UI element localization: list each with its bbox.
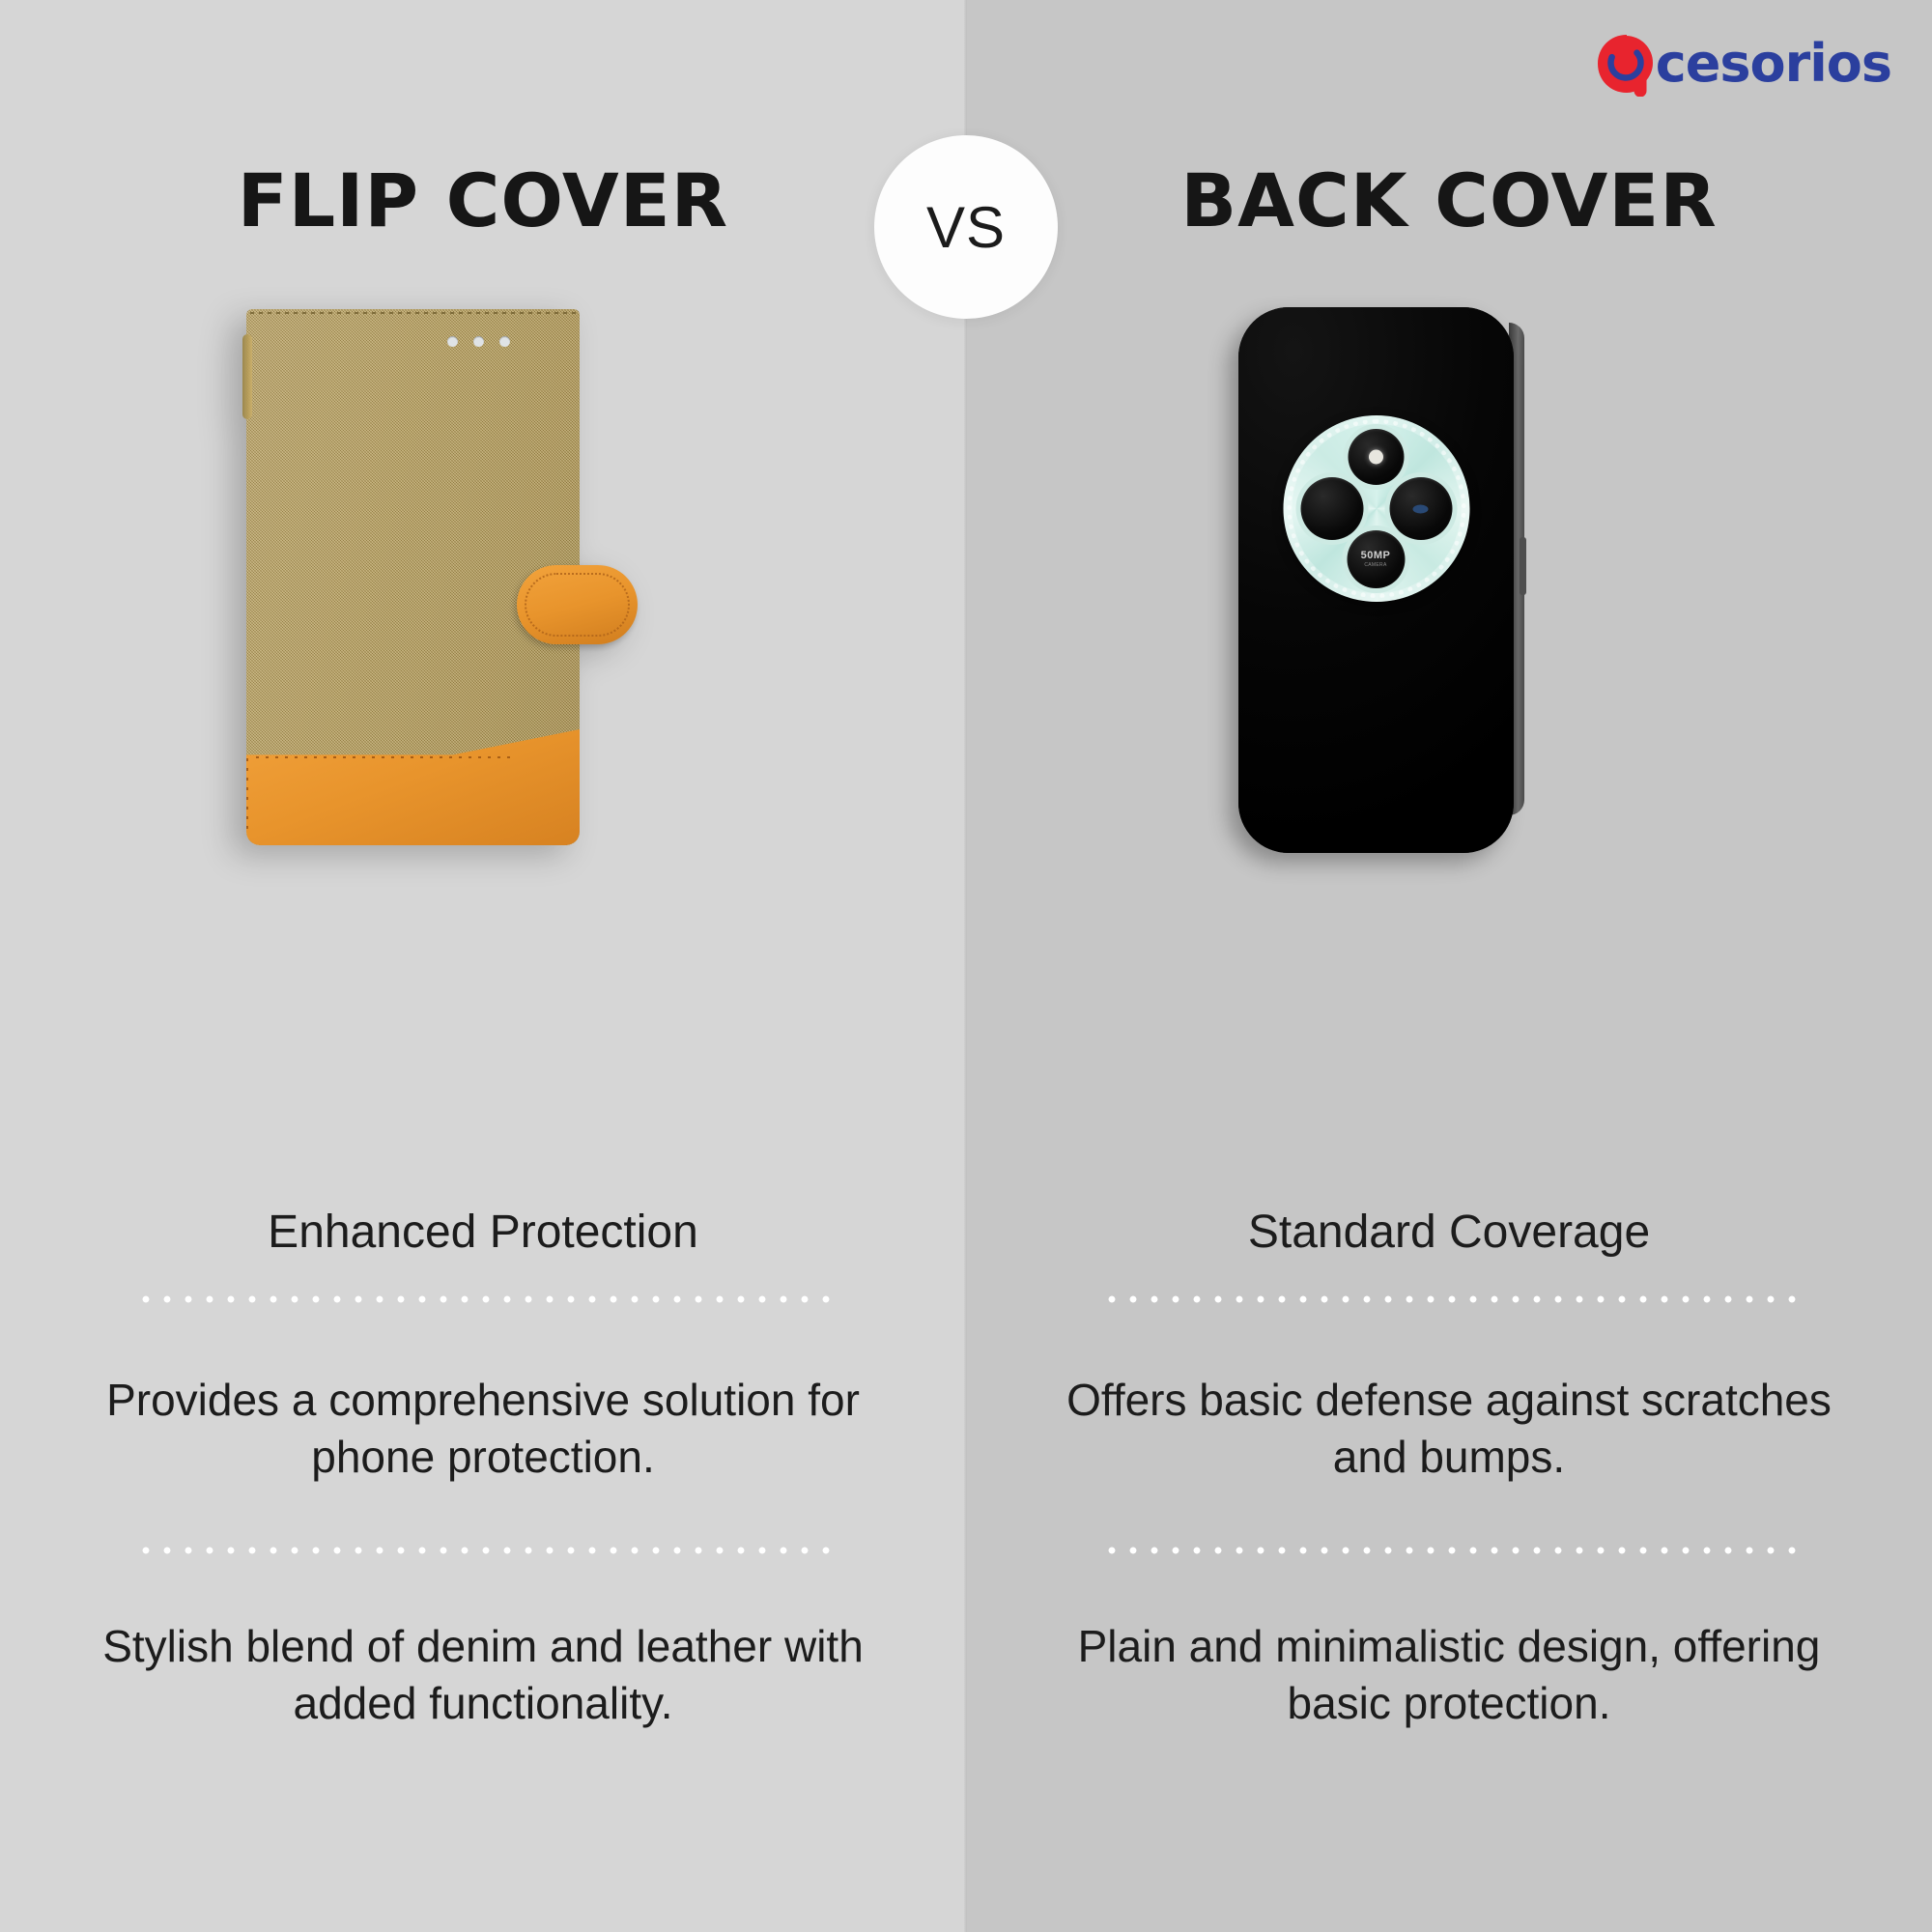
camera-megapixel-label: 50MP <box>1361 551 1391 561</box>
leather-stitch-top <box>256 756 516 758</box>
camera-lens-right <box>1389 477 1452 540</box>
flip-cover-top-stitching <box>250 312 576 314</box>
camera-lens-left <box>1300 477 1363 540</box>
right-product-stage: 50MP CAMERA <box>966 290 1932 1130</box>
camera-lens-glint <box>1413 504 1429 513</box>
left-feature-2: Stylish blend of denim and leather with … <box>58 1618 908 1732</box>
camera-flash-lens <box>1348 429 1404 485</box>
camera-main-lens: 50MP CAMERA <box>1347 530 1405 588</box>
camera-megapixel-sublabel: CAMERA <box>1364 563 1386 568</box>
flip-cover-product-image <box>246 309 580 845</box>
speaker-dot <box>447 336 458 347</box>
speaker-dot <box>499 336 510 347</box>
flip-cover-spine <box>242 334 252 419</box>
right-heading: BACK COVER <box>966 164 1932 238</box>
leather-stitch-right <box>246 739 248 830</box>
leather-stitch-bottom <box>262 729 564 731</box>
brand-logo: cesorios <box>1594 23 1891 104</box>
left-dotted-divider-2 <box>135 1546 840 1555</box>
left-dotted-divider-1 <box>135 1294 840 1304</box>
flip-cover-speaker-dots <box>447 336 510 347</box>
brand-logo-text: cesorios <box>1656 38 1891 90</box>
comparison-infographic: cesorios FLIP COVER BACK COVER VS <box>0 0 1932 1932</box>
flip-cover-magnetic-clasp <box>517 565 638 644</box>
left-heading: FLIP COVER <box>0 164 966 238</box>
circular-a-mark-icon <box>1594 31 1660 97</box>
camera-flash-dot <box>1369 450 1383 465</box>
right-feature-2: Plain and minimalistic design, offering … <box>1024 1618 1874 1732</box>
phone-side-button <box>1520 537 1526 595</box>
back-cover-product-image: 50MP CAMERA <box>1238 307 1514 853</box>
speaker-dot <box>473 336 484 347</box>
right-dotted-divider-2 <box>1101 1546 1806 1555</box>
right-subtitle: Standard Coverage <box>966 1207 1932 1259</box>
right-dotted-divider-1 <box>1101 1294 1806 1304</box>
right-feature-1: Offers basic defense against scratches a… <box>1024 1372 1874 1486</box>
left-feature-1: Provides a comprehensive solution for ph… <box>58 1372 908 1486</box>
camera-module: 50MP CAMERA <box>1283 415 1469 602</box>
flip-cover-leather-bottom-panel <box>246 729 580 845</box>
left-product-stage <box>0 290 966 1130</box>
left-subtitle: Enhanced Protection <box>0 1207 966 1259</box>
vs-badge-label: VS <box>926 194 1006 261</box>
